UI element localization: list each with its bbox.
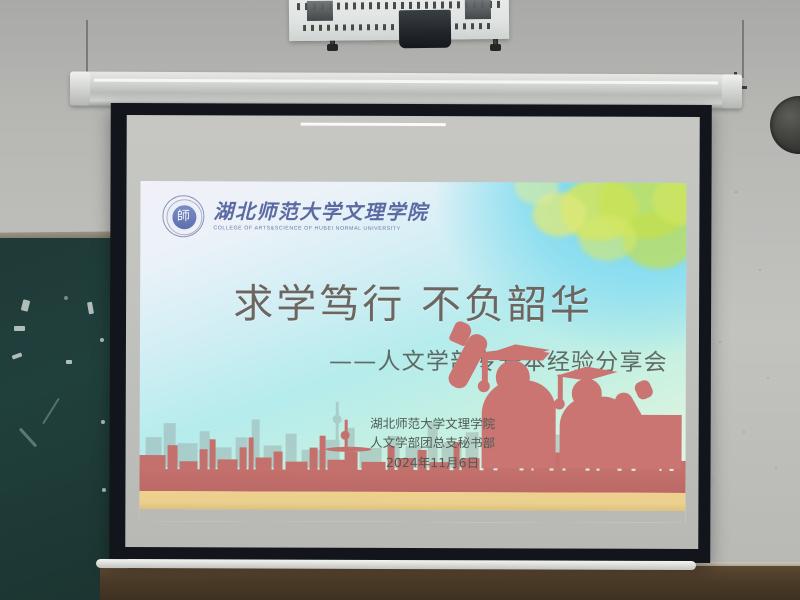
credits-line-2: 人文学部团总支秘书部 [308,433,558,453]
chalk-mark [42,398,60,425]
university-crest-icon: 師 [162,195,204,237]
roller-end-cap [722,74,742,108]
chalk-mark [66,360,72,364]
university-logo: 師 湖北师范大学文理学院 COLLEGE OF ARTS&SCIENCE OF … [162,195,428,238]
logo-chinese-name: 湖北师范大学文理学院 [213,201,428,223]
projector-lens [399,10,451,49]
screen-hanger-wire [86,20,88,78]
slide-ground-band [139,469,685,493]
logo-english-name: COLLEGE OF ARTS&SCIENCE OF HUBEI NORMAL … [213,225,428,232]
projector-mount-foot [327,44,338,51]
credits-line-1: 湖北师范大学文理学院 [308,414,558,434]
projector-mount-foot [490,44,501,51]
screen-hanger-wire [742,20,744,78]
chalkboard [0,238,124,600]
chalk-mark [14,326,25,331]
chalk-mark [64,296,68,300]
roller-end-cap [70,72,90,106]
presentation-slide: 師 湖北师范大学文理学院 COLLEGE OF ARTS&SCIENCE OF … [139,181,686,523]
slide-gold-band [139,491,685,511]
screen-surface: 師 湖北师范大学文理学院 COLLEGE OF ARTS&SCIENCE OF … [125,115,700,549]
chalk-mark [101,420,105,424]
credits-line-3: 2024年11月6日 [308,452,558,472]
projector-bracket [307,1,333,21]
chalk-mark [12,352,23,359]
slide-credits: 湖北师范大学文理学院 人文学部团总支秘书部 2024年11月6日 [308,414,558,473]
chalk-mark [102,488,106,492]
screen-glare [301,123,446,127]
chalk-mark [100,338,104,342]
slide-bottom-margin [139,509,685,523]
chalk-mark [21,299,30,311]
chalk-mark [87,302,94,315]
projection-screen[interactable]: 師 湖北师范大学文理学院 COLLEGE OF ARTS&SCIENCE OF … [109,103,712,563]
desk-surface [100,566,800,600]
chalk-mark [19,428,37,448]
roller-highlight [94,79,718,85]
classroom-scene: 師 湖北师范大学文理学院 COLLEGE OF ARTS&SCIENCE OF … [0,0,800,600]
crest-glyph: 師 [163,207,203,227]
projector-bracket [465,0,491,19]
